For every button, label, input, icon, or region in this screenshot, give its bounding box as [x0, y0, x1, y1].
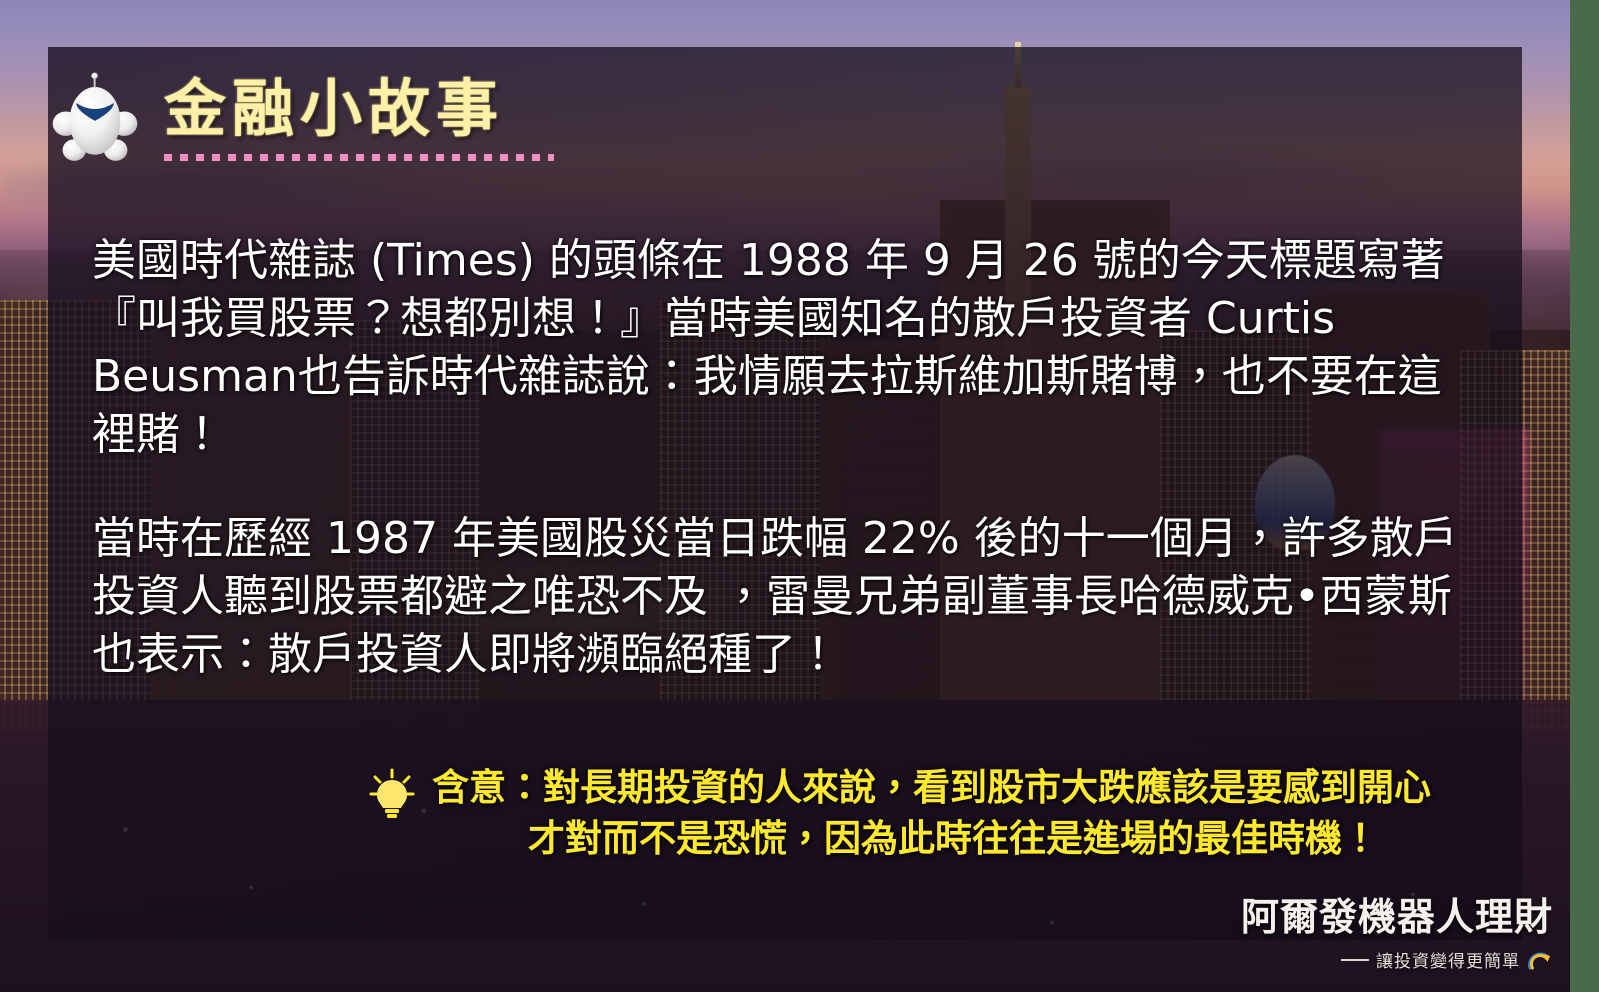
story-paragraph-1: 美國時代雜誌 (Times) 的頭條在 1988 年 9 月 26 號的今天標題… [92, 232, 1482, 464]
robot-mascot-icon [48, 72, 142, 166]
page-title: 金融小故事 [164, 78, 554, 140]
rainbow-arrow-icon [1527, 950, 1553, 970]
infographic-stage: 金融小故事 美國時代雜誌 (Times) 的頭條在 1988 年 9 月 26 … [0, 0, 1599, 992]
brand-name: 阿爾發機器人理財 [1241, 886, 1553, 941]
story-paragraph-2: 當時在歷經 1987 年美國股災當日跌幅 22% 後的十一個月，許多散戶投資人聽… [92, 510, 1482, 684]
brand-tagline-row: 讓投資變得更簡單 [1241, 947, 1553, 972]
brand-tagline: 讓投資變得更簡單 [1376, 947, 1520, 972]
lightbulb-icon [368, 768, 416, 822]
right-edge-strip [1570, 0, 1599, 992]
tagline-rule [1341, 959, 1369, 961]
conclusion-line-2: 才對而不是恐慌，因為此時往往是進場的最佳時機！ [432, 813, 1431, 864]
header: 金融小故事 [48, 72, 554, 166]
conclusion-line-1: 含意：對長期投資的人來說，看到股市大跌應該是要感到開心 [432, 766, 1431, 809]
brand-logo: 阿爾發機器人理財 讓投資變得更簡單 [1241, 886, 1553, 972]
title-dotted-divider [164, 154, 554, 161]
conclusion-block: 含意：對長期投資的人來說，看到股市大跌應該是要感到開心 才對而不是恐慌，因為此時… [368, 762, 1488, 864]
conclusion-text: 含意：對長期投資的人來說，看到股市大跌應該是要感到開心 才對而不是恐慌，因為此時… [432, 762, 1431, 864]
story-body: 美國時代雜誌 (Times) 的頭條在 1988 年 9 月 26 號的今天標題… [92, 232, 1482, 684]
